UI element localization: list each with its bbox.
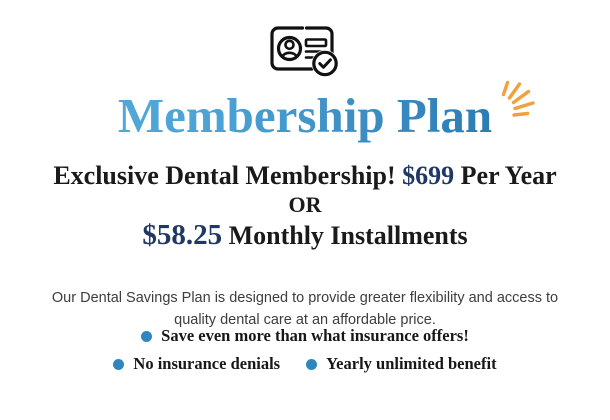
- monthly-price: $58.25: [142, 219, 222, 251]
- list-item: Yearly unlimited benefit: [306, 354, 497, 374]
- list-item-label: Save even more than what insurance offer…: [161, 326, 469, 346]
- bullet-dot-icon: [113, 359, 124, 370]
- offer-line1-prefix: Exclusive Dental Membership!: [53, 161, 402, 190]
- page-title: Membership Plan: [118, 88, 492, 143]
- offer-line-annual: Exclusive Dental Membership! $699 Per Ye…: [20, 160, 590, 191]
- offer-headline: Exclusive Dental Membership! $699 Per Ye…: [20, 160, 590, 252]
- offer-or-separator: OR: [20, 191, 590, 219]
- feature-row: Save even more than what insurance offer…: [0, 326, 610, 346]
- page-title-row: Membership Plan: [0, 88, 610, 144]
- membership-plan-poster: Membership Plan Exclusive Dental Members…: [0, 0, 610, 420]
- offer-line1-suffix: Per Year: [454, 161, 557, 190]
- offer-line3-suffix: Monthly Installments: [222, 221, 468, 250]
- offer-line-monthly: $58.25 Monthly Installments: [20, 219, 590, 252]
- list-item-label: No insurance denials: [133, 354, 280, 374]
- annual-price: $699: [402, 161, 454, 190]
- id-card-verified-icon: [0, 24, 610, 86]
- bullet-dot-icon: [306, 359, 317, 370]
- plan-description: Our Dental Savings Plan is designed to p…: [48, 287, 562, 331]
- list-item: No insurance denials: [113, 354, 280, 374]
- feature-list: Save even more than what insurance offer…: [0, 326, 610, 382]
- list-item-label: Yearly unlimited benefit: [326, 354, 497, 374]
- bullet-dot-icon: [141, 331, 152, 342]
- feature-row: No insurance denials Yearly unlimited be…: [0, 354, 610, 374]
- list-item: Save even more than what insurance offer…: [141, 326, 469, 346]
